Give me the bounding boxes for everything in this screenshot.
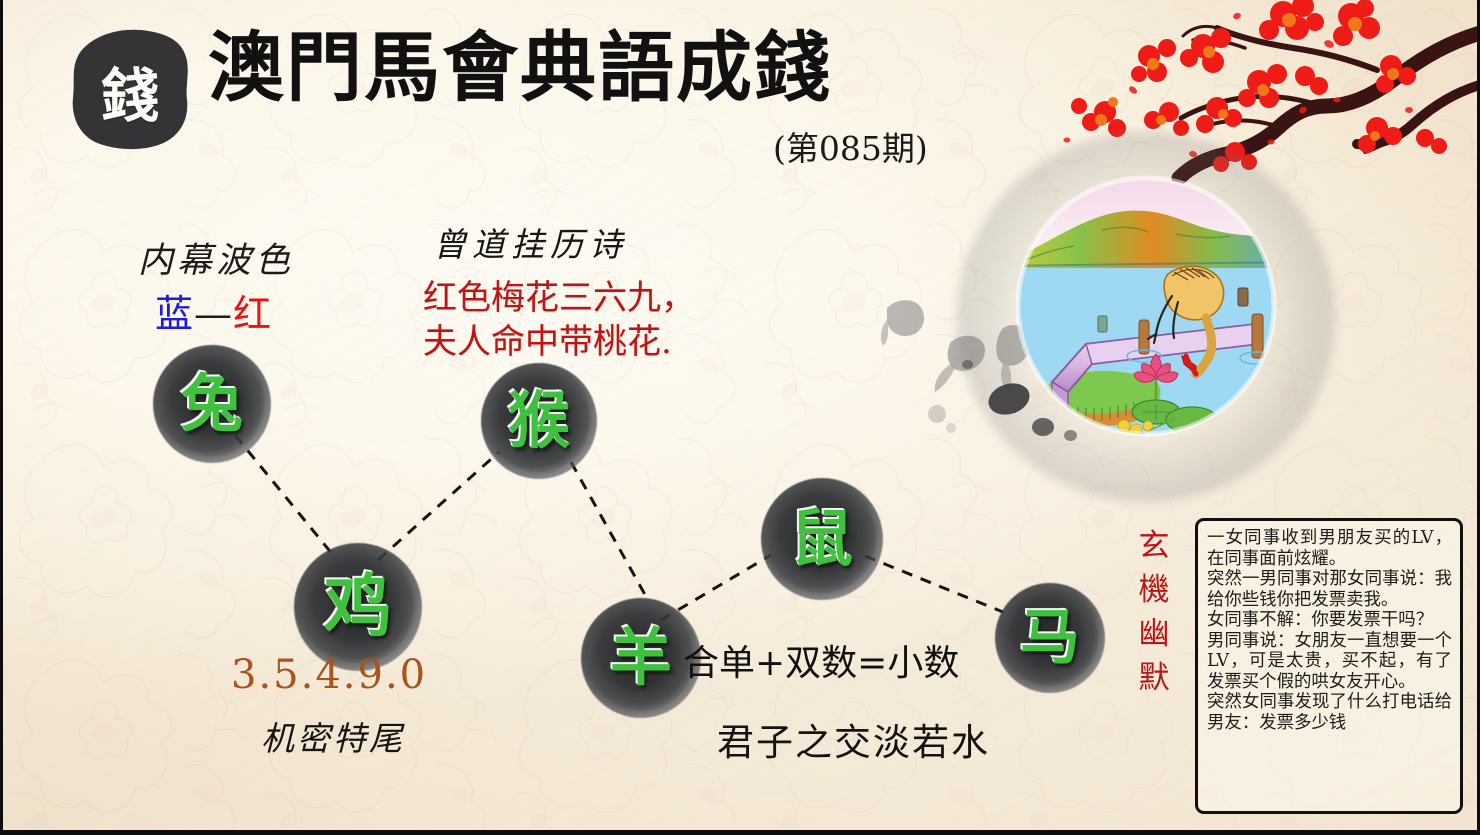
connector-line-2	[378, 452, 499, 560]
zodiac-character: 羊	[610, 627, 672, 689]
joke-line-2: 突然一男同事对那女同事说：我给你些钱你把发票卖我。	[1207, 569, 1452, 610]
zodiac-character: 鼠	[791, 508, 853, 570]
poster-canvas: 錢 澳門馬會典語成錢 (第085期) 内幕波色 蓝—红 曾道挂历诗 红色梅花三六…	[0, 0, 1480, 835]
zodiac-character: 猴	[508, 390, 570, 452]
joke-textbox: 一女同事收到男朋友买的LV，在同事面前炫耀。突然一男同事对那女同事说：我给你些钱…	[1195, 518, 1463, 814]
poem-label: 曾道挂历诗	[433, 218, 628, 266]
seal-stamp: 錢	[65, 24, 193, 154]
zodiac-blob-猴[interactable]: 猴	[481, 363, 597, 479]
ink-splat-2	[1032, 418, 1054, 436]
joke-line-5: 突然女同事发现了什么打电话给男友：发票多少钱	[1207, 692, 1452, 733]
secret-numbers: 3.5.4.9.0	[231, 652, 427, 698]
zodiac-character: 鸡	[324, 573, 392, 641]
joke-line-4: 男同事说：女朋友一直想要一个LV，可是太贵，买不起，有了发票买个假的哄女友开心。	[1207, 631, 1452, 693]
secret-numbers-caption: 机密特尾	[261, 712, 405, 760]
zodiac-character: 马	[1020, 608, 1080, 668]
xuanji-youmo-label: 玄機幽默	[1131, 524, 1177, 700]
xuanji-youmo-char: 機	[1131, 568, 1177, 612]
page-title: 澳門馬會典語成錢	[208, 30, 832, 106]
bose-value: 蓝—红	[155, 283, 272, 338]
poem-line-2: 夫人命中带桃花.	[423, 320, 695, 364]
issue-number: (第085期)	[773, 122, 928, 170]
joke-line-1: 一女同事收到男朋友买的LV，在同事面前炫耀。	[1207, 528, 1452, 569]
junzi-proverb: 君子之交淡若水	[717, 712, 990, 766]
joke-line-3: 女同事不解：你要发票干吗？	[1207, 610, 1452, 631]
zodiac-blob-马[interactable]: 马	[995, 583, 1105, 693]
bose-blue: 蓝	[155, 292, 194, 336]
connector-line-1	[235, 435, 333, 555]
poem-line-1: 红色梅花三六九，	[423, 276, 695, 320]
ink-splat-4	[962, 360, 973, 369]
zodiac-character: 兔	[181, 373, 243, 435]
poem-text: 红色梅花三六九， 夫人命中带桃花.	[423, 276, 695, 364]
xuanji-youmo-char: 玄	[1131, 524, 1177, 568]
seal-character: 錢	[65, 24, 193, 154]
circular-painting	[1006, 168, 1286, 450]
connector-line-3	[571, 462, 648, 600]
ink-splat-3	[1064, 430, 1077, 441]
bose-dash: —	[194, 292, 233, 336]
xuanji-youmo-text: 玄機幽默	[1131, 524, 1177, 700]
bose-red: 红	[233, 292, 272, 336]
xuanji-youmo-char: 默	[1131, 656, 1177, 700]
zodiac-blob-兔[interactable]: 兔	[153, 345, 271, 463]
zodiac-blob-鼠[interactable]: 鼠	[761, 478, 883, 600]
painting-artwork	[1006, 168, 1286, 450]
xuanji-youmo-char: 幽	[1131, 612, 1177, 656]
formula-text: 合单+双数=小数	[683, 634, 959, 686]
connector-line-5	[865, 556, 1003, 612]
neimu-bose-label: 内幕波色	[138, 232, 294, 283]
joke-lines: 一女同事收到男朋友买的LV，在同事面前炫耀。突然一男同事对那女同事说：我给你些钱…	[1207, 528, 1452, 733]
